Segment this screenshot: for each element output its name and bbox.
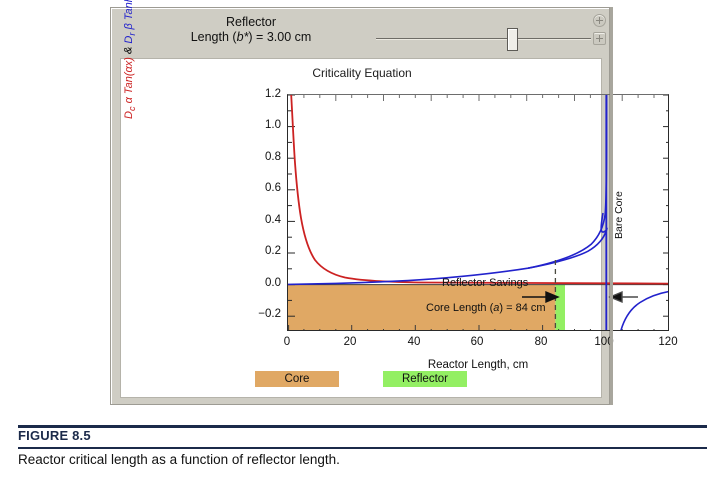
ytick-0.0: 0.0	[247, 277, 281, 289]
reflector-label-var: b*	[237, 30, 249, 44]
reflector-length-slider[interactable]	[376, 37, 591, 40]
xtick-20: 20	[330, 336, 370, 348]
core-length-label: Core Length (a) = 84 cm	[426, 302, 546, 314]
reflector-label-pre: Length (	[191, 30, 237, 44]
panel-corner-buttons	[593, 14, 607, 45]
left-ticks	[288, 95, 295, 316]
reflector-label-line2: Length (b*) = 3.00 cm	[131, 30, 371, 45]
reflector-curve-branch1	[288, 213, 607, 284]
bare-core-label: Bare Core	[613, 191, 625, 239]
legend-core-swatch: Core	[255, 371, 339, 387]
core-length-post: ) = 84 cm	[499, 302, 545, 314]
xtick-60: 60	[457, 336, 497, 348]
reflector-savings-label: Reflector Savings	[442, 277, 528, 289]
y-axis-label-amp: &	[123, 44, 135, 57]
xtick-120: 120	[648, 336, 688, 348]
chart-title: Criticality Equation	[121, 66, 603, 80]
ytick-0.2: 0.2	[247, 245, 281, 257]
slider-track-highlight	[376, 39, 591, 40]
reflector-curve-asymptote-rise	[528, 95, 607, 268]
ytick-1.0: 1.0	[247, 119, 281, 131]
ytick--0.2: −0.2	[247, 308, 281, 320]
figure-number: FIGURE 8.5	[18, 428, 91, 443]
slider-thumb[interactable]	[507, 28, 518, 51]
ytick-0.6: 0.6	[247, 182, 281, 194]
reflector-length-label: Reflector Length (b*) = 3.00 cm	[131, 15, 371, 45]
reflector-label-post: ) = 3.00 cm	[248, 30, 311, 44]
xtick-0: 0	[267, 336, 307, 348]
chart-legend: Core Reflector	[121, 371, 603, 391]
asymptote-left-arrow	[610, 292, 638, 302]
core-length-pre: Core Length (	[426, 302, 493, 314]
legend-reflector-swatch: Reflector	[383, 371, 467, 387]
panel-drop-shadow	[610, 7, 613, 405]
top-minor-ticks	[304, 95, 654, 101]
ytick-1.2: 1.2	[247, 88, 281, 100]
caption-rule-middle	[18, 447, 707, 449]
xtick-100: 100	[584, 336, 624, 348]
ytick-0.4: 0.4	[247, 214, 281, 226]
y-axis-label: Dc α Tan(αx) & Dr β Tanh−1(βx)	[119, 0, 137, 119]
criticality-chart: Criticality Equation Dc α Tan(αx) & Dr β…	[121, 59, 603, 399]
figure-caption: Reactor critical length as a function of…	[18, 452, 340, 467]
ytick-0.8: 0.8	[247, 151, 281, 163]
applet-panel: Reflector Length (b*) = 3.00 cm Critical…	[110, 7, 610, 405]
square-plus-icon[interactable]	[593, 32, 606, 45]
reflector-region	[555, 285, 565, 331]
xtick-80: 80	[521, 336, 561, 348]
control-strip: Reflector Length (b*) = 3.00 cm	[111, 8, 611, 56]
caption-rule-top	[18, 425, 707, 428]
round-plus-icon[interactable]	[593, 14, 606, 27]
plot-card: Criticality Equation Dc α Tan(αx) & Dr β…	[120, 58, 602, 398]
reflector-label-line1: Reflector	[131, 15, 371, 30]
xtick-40: 40	[394, 336, 434, 348]
y-axis-label-core: Dc α Tan(αx)	[123, 57, 135, 119]
y-axis-label-reflector: Dr β Tanh−1(βx)	[123, 0, 135, 44]
figure-root: Reflector Length (b*) = 3.00 cm Critical…	[0, 0, 725, 486]
